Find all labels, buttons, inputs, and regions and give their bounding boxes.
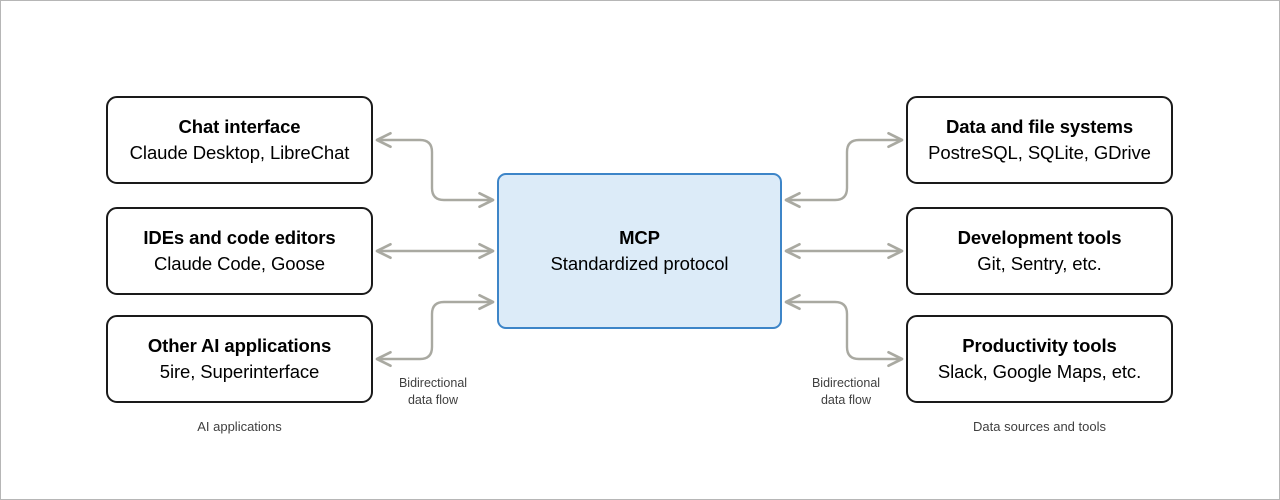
flow-label-line-1: Bidirectional (786, 375, 906, 392)
label-bidirectional-data-flow-left: Bidirectional data flow (373, 375, 493, 409)
node-mcp[interactable]: MCP Standardized protocol (497, 173, 782, 329)
node-subtitle: PostreSQL, SQLite, GDrive (928, 141, 1151, 165)
label-bidirectional-data-flow-right: Bidirectional data flow (786, 375, 906, 409)
node-title: IDEs and code editors (143, 226, 335, 249)
node-subtitle: Claude Code, Goose (154, 252, 325, 276)
node-subtitle: Slack, Google Maps, etc. (938, 360, 1141, 384)
connector-other-ai-to-mcp (377, 302, 493, 359)
connector-chat-to-mcp (377, 140, 493, 200)
node-ides-and-code-editors[interactable]: IDEs and code editors Claude Code, Goose (106, 207, 373, 295)
caption-ai-applications: AI applications (106, 419, 373, 434)
node-title: Development tools (958, 226, 1122, 249)
node-chat-interface[interactable]: Chat interface Claude Desktop, LibreChat (106, 96, 373, 184)
connector-mcp-to-data-file-systems (786, 140, 902, 200)
node-title: Other AI applications (148, 334, 331, 357)
caption-data-sources-and-tools: Data sources and tools (906, 419, 1173, 434)
node-other-ai-applications[interactable]: Other AI applications 5ire, Superinterfa… (106, 315, 373, 403)
flow-label-line-1: Bidirectional (373, 375, 493, 392)
node-subtitle: 5ire, Superinterface (160, 360, 319, 384)
node-development-tools[interactable]: Development tools Git, Sentry, etc. (906, 207, 1173, 295)
node-title: MCP (619, 226, 660, 249)
node-productivity-tools[interactable]: Productivity tools Slack, Google Maps, e… (906, 315, 1173, 403)
node-subtitle: Standardized protocol (551, 252, 729, 276)
node-subtitle: Git, Sentry, etc. (977, 252, 1101, 276)
flow-label-line-2: data flow (373, 392, 493, 409)
node-title: Productivity tools (962, 334, 1116, 357)
node-title: Data and file systems (946, 115, 1133, 138)
node-title: Chat interface (179, 115, 301, 138)
node-subtitle: Claude Desktop, LibreChat (130, 141, 350, 165)
node-data-and-file-systems[interactable]: Data and file systems PostreSQL, SQLite,… (906, 96, 1173, 184)
flow-label-line-2: data flow (786, 392, 906, 409)
diagram-canvas: Chat interface Claude Desktop, LibreChat… (0, 0, 1280, 500)
connector-mcp-to-productivity-tools (786, 302, 902, 359)
